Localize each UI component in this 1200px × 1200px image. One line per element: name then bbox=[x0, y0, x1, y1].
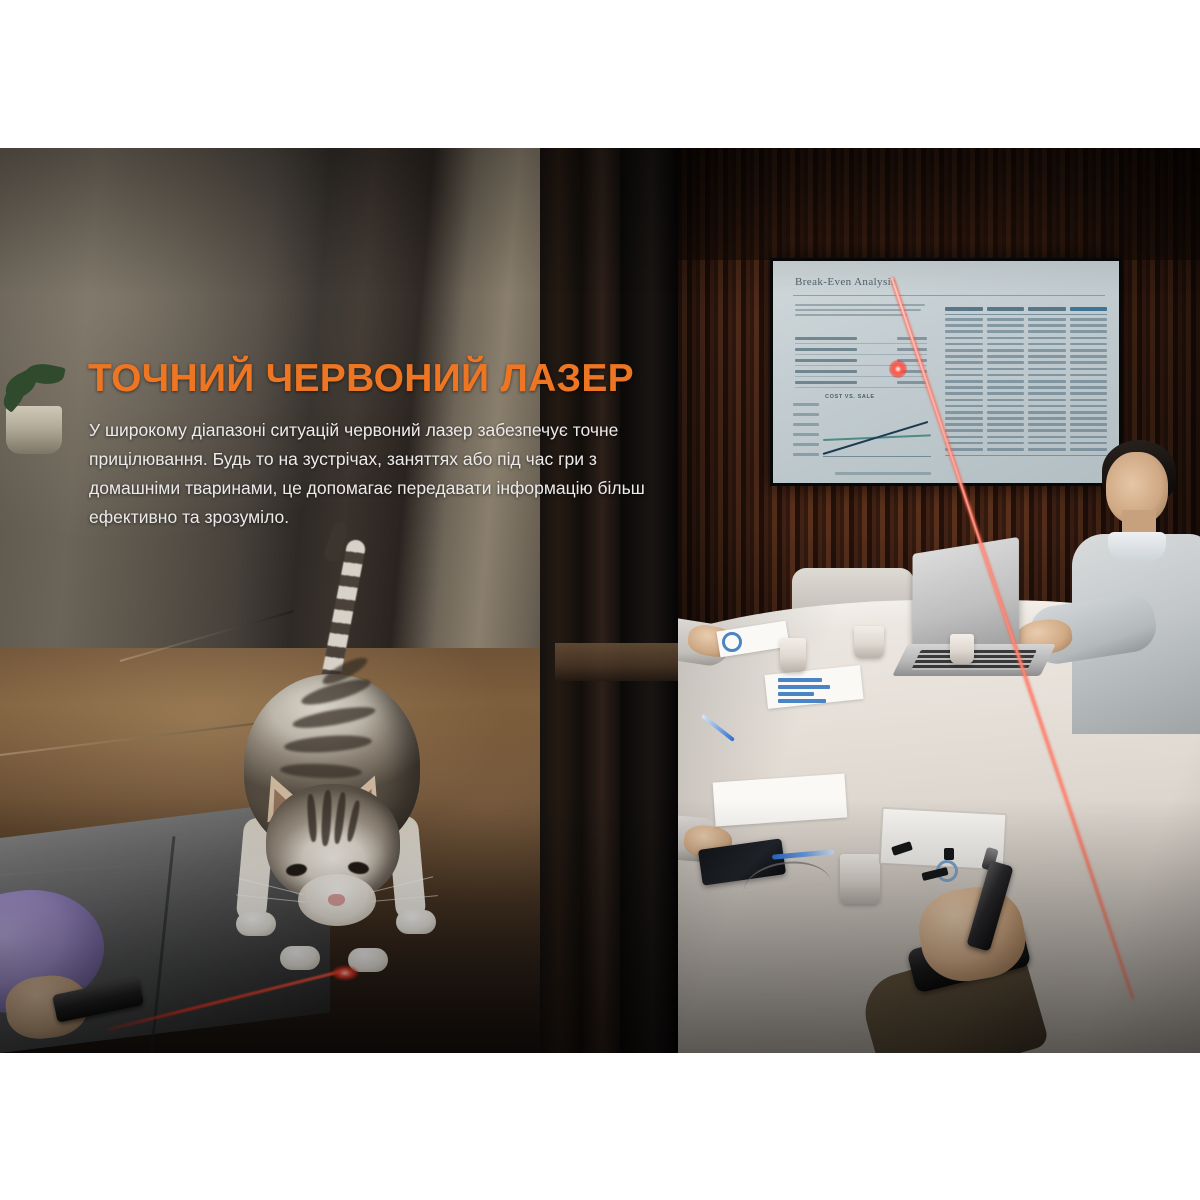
body-paragraph: У широкому діапазоні ситуацій червоний л… bbox=[89, 416, 664, 532]
slide-divider bbox=[793, 295, 1105, 296]
table-row bbox=[945, 330, 1107, 333]
cat-paw bbox=[280, 946, 320, 970]
paper-sheet bbox=[713, 773, 848, 826]
desk-accessory bbox=[944, 848, 954, 860]
table-row bbox=[945, 417, 1107, 420]
metric-row bbox=[795, 377, 927, 388]
pie-chart-graphic bbox=[722, 632, 742, 652]
cat-nose bbox=[328, 894, 345, 906]
product-banner: Break-Even Analysis COST VS. bbox=[0, 148, 1200, 1053]
bar-chart-bar bbox=[778, 692, 814, 696]
break-even-line-chart bbox=[793, 401, 935, 467]
left-scene-cat bbox=[0, 148, 678, 1053]
table-row bbox=[945, 374, 1107, 377]
door-frame bbox=[540, 148, 626, 1053]
cat bbox=[200, 568, 500, 1018]
table-row bbox=[945, 399, 1107, 402]
bar-chart-bar bbox=[778, 699, 826, 703]
door-frame-inner bbox=[620, 148, 678, 1053]
wall-display[interactable]: Break-Even Analysis COST VS. bbox=[770, 258, 1122, 486]
table-header-row bbox=[945, 307, 1107, 315]
slide-title: Break-Even Analysis bbox=[795, 276, 896, 288]
table-row bbox=[945, 343, 1107, 346]
table-row bbox=[945, 448, 1107, 451]
table-row bbox=[945, 405, 1107, 408]
headline: ТОЧНИЙ ЧЕРВОНИЙ ЛАЗЕР bbox=[88, 357, 634, 401]
table-row bbox=[945, 349, 1107, 352]
laser-dot-on-screen bbox=[889, 360, 907, 378]
table-header-cell bbox=[945, 307, 983, 311]
plant-pot bbox=[6, 406, 62, 454]
coffee-mug bbox=[780, 638, 806, 672]
coffee-mug bbox=[840, 854, 880, 904]
baseboard-trim bbox=[555, 643, 678, 681]
chart-x-axis bbox=[823, 456, 931, 457]
table-header-cell bbox=[1028, 307, 1066, 311]
slide-metrics-list bbox=[795, 333, 927, 388]
table-footer-rule bbox=[945, 455, 1107, 456]
laser-dot bbox=[332, 966, 358, 980]
metric-row bbox=[795, 355, 927, 366]
slide-surface: Break-Even Analysis COST VS. bbox=[773, 261, 1119, 483]
chart-legend bbox=[835, 472, 931, 475]
table-row bbox=[945, 361, 1107, 364]
cat-paw bbox=[396, 910, 436, 934]
seated-person-collar bbox=[1108, 532, 1166, 562]
metric-row bbox=[795, 344, 927, 355]
table-row bbox=[945, 386, 1107, 389]
table-row bbox=[945, 392, 1107, 395]
table-row bbox=[945, 318, 1107, 321]
table-row bbox=[945, 436, 1107, 439]
bar-chart-bar bbox=[778, 685, 830, 689]
table-row bbox=[945, 380, 1107, 383]
cat-paw bbox=[236, 912, 276, 936]
table-header-cell bbox=[1070, 307, 1108, 311]
table-row bbox=[945, 442, 1107, 445]
table-row bbox=[945, 429, 1107, 432]
right-scene-meeting: Break-Even Analysis COST VS. bbox=[678, 148, 1200, 1053]
table-header-cell bbox=[987, 307, 1025, 311]
break-even-table bbox=[945, 307, 1107, 456]
chart-title: COST VS. SALE bbox=[825, 394, 875, 400]
metric-row bbox=[795, 366, 927, 377]
coffee-mug bbox=[854, 626, 884, 658]
table-row bbox=[945, 337, 1107, 340]
table-row bbox=[945, 355, 1107, 358]
table-row bbox=[945, 324, 1107, 327]
table-row bbox=[945, 368, 1107, 371]
page-root: Break-Even Analysis COST VS. bbox=[0, 0, 1200, 1200]
table-row bbox=[945, 411, 1107, 414]
table-row bbox=[945, 423, 1107, 426]
coffee-mug bbox=[950, 634, 974, 664]
metric-row bbox=[795, 333, 927, 344]
bar-chart-bar bbox=[778, 678, 822, 682]
